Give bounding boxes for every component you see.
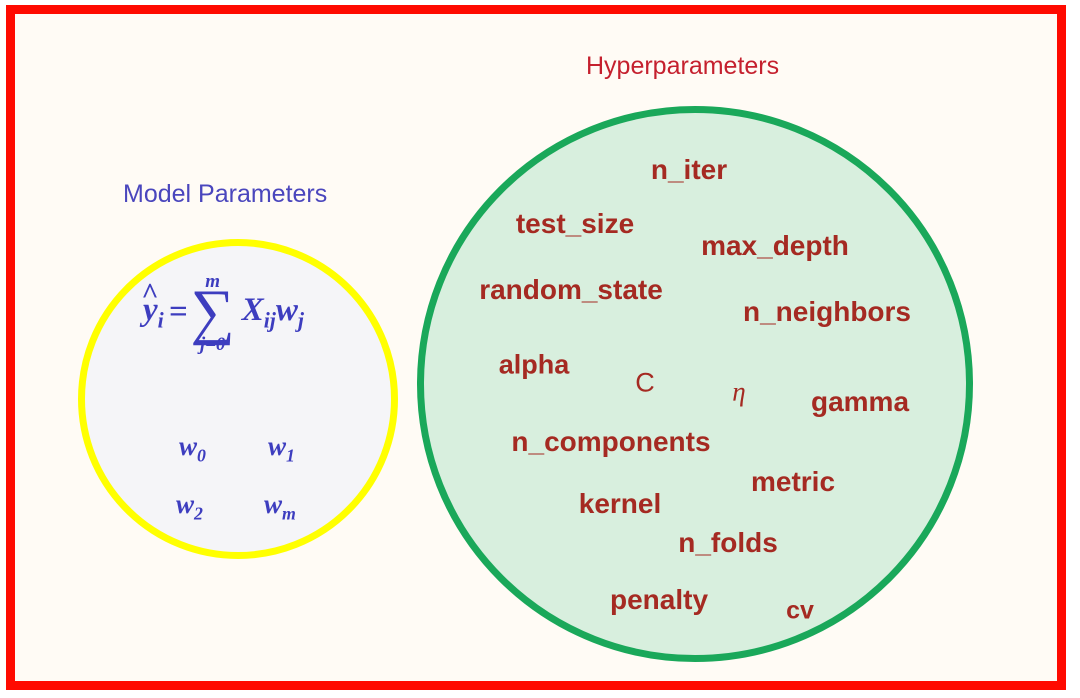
hyperparameter-label-cv: cv — [786, 599, 814, 624]
hyperparameter-label-ncomponents: n_components — [511, 428, 710, 456]
model-parameters-formula: ^yi = m ∑ j=0 Xijwj — [143, 272, 304, 354]
hyperparameter-label-randomstate: random_state — [479, 276, 663, 304]
sigma-icon: ∑ — [191, 287, 235, 338]
formula-lhs: ^yi — [143, 294, 164, 332]
weight-symbol-m: wm — [264, 491, 296, 523]
hyperparameter-label-gamma: gamma — [811, 388, 909, 416]
red-border-frame: Model Parameters ^yi = m ∑ j=0 Xijwj w0w… — [6, 5, 1066, 690]
formula-equals: = — [169, 296, 188, 329]
weight-subscript: 2 — [194, 503, 203, 523]
formula-lhs-subscript: i — [158, 308, 164, 332]
formula-term1-subscript: ij — [264, 308, 276, 332]
weight-base: w — [176, 489, 194, 519]
hyperparameter-label-maxdepth: max_depth — [701, 232, 849, 260]
formula-hat-accent: ^ — [141, 280, 158, 310]
hyperparameter-label-niter: n_iter — [651, 156, 727, 184]
formula-term2-base: w — [276, 292, 298, 328]
weight-subscript: 0 — [197, 445, 206, 465]
weight-base: w — [179, 431, 197, 461]
hyperparameter-label-kernel: kernel — [579, 490, 662, 518]
weight-symbol-1: w1 — [268, 433, 295, 465]
hyperparameters-title: Hyperparameters — [586, 54, 779, 79]
formula-rhs: Xijwj — [242, 294, 304, 332]
formula-term2-subscript: j — [298, 308, 304, 332]
hyperparameter-label-nfolds: n_folds — [678, 529, 778, 557]
weight-base: w — [268, 431, 286, 461]
hyperparameter-label-nneighbors: n_neighbors — [743, 298, 911, 326]
weight-subscript: 1 — [286, 445, 295, 465]
weight-subscript: m — [282, 503, 296, 523]
hyperparameter-label-C: C — [635, 370, 655, 397]
weight-base: w — [264, 489, 282, 519]
hyperparameter-label-alpha: alpha — [499, 352, 570, 379]
hyperparameter-label-penalty: penalty — [610, 586, 708, 614]
hyperparameter-label-: η — [732, 379, 745, 406]
formula-sum-lower-limit: j=0 — [200, 335, 226, 354]
hyperparameter-label-metric: metric — [751, 468, 835, 496]
hyperparameters-circle — [417, 106, 973, 662]
weight-symbol-0: w0 — [179, 433, 206, 465]
formula-term1-base: X — [242, 292, 264, 328]
weight-symbol-2: w2 — [176, 491, 203, 523]
hyperparameter-label-testsize: test_size — [516, 210, 634, 238]
model-parameters-title: Model Parameters — [123, 182, 327, 207]
formula-summation: m ∑ j=0 — [191, 272, 235, 354]
diagram-canvas: Model Parameters ^yi = m ∑ j=0 Xijwj w0w… — [0, 0, 1080, 698]
